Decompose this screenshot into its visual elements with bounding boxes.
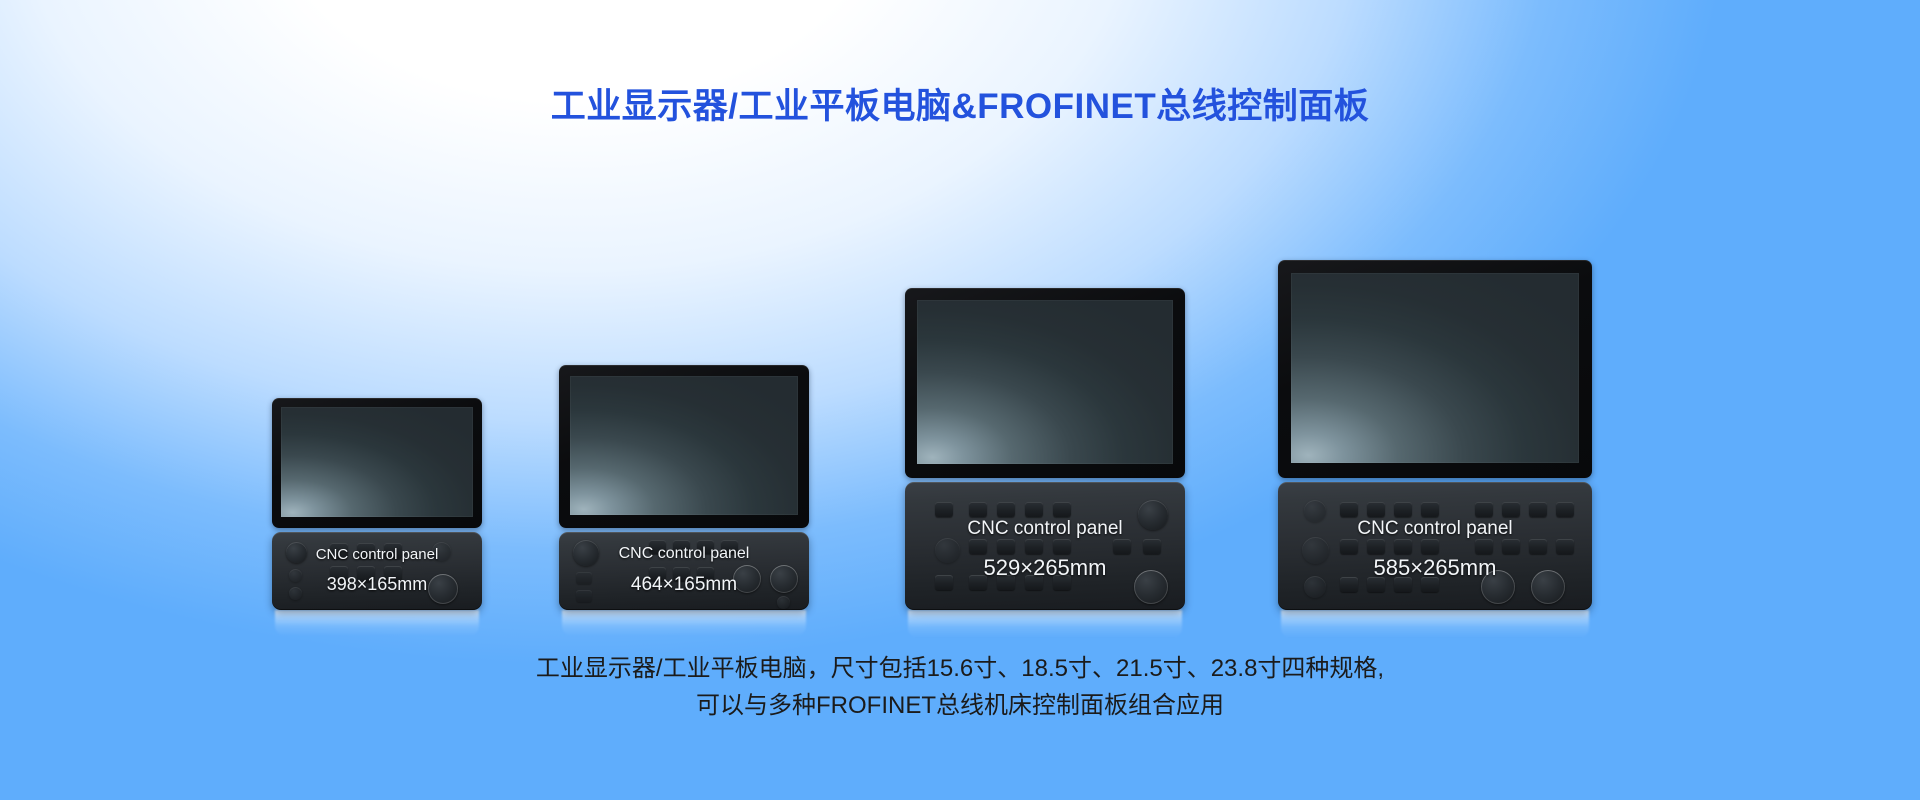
button-icon[interactable] (1367, 502, 1385, 517)
caption-block: 工业显示器/工业平板电脑，尺寸包括15.6寸、18.5寸、21.5寸、23.8寸… (0, 650, 1920, 724)
knob-icon[interactable] (286, 542, 307, 563)
knob-icon[interactable] (432, 542, 451, 561)
knob-icon[interactable] (428, 574, 458, 604)
button-icon[interactable] (1394, 502, 1412, 517)
button-icon[interactable] (997, 575, 1015, 590)
button-icon[interactable] (1053, 502, 1071, 517)
button-icon[interactable] (576, 590, 592, 602)
button-icon[interactable] (1340, 577, 1358, 592)
monitor-screen (917, 300, 1173, 464)
button-icon[interactable] (357, 566, 375, 582)
button-icon[interactable] (1502, 502, 1520, 517)
button-icon[interactable] (1340, 502, 1358, 517)
button-icon[interactable] (1556, 502, 1574, 517)
button-icon[interactable] (673, 567, 690, 581)
knob-icon[interactable] (1481, 570, 1515, 604)
button-icon[interactable] (969, 539, 987, 554)
knob-icon[interactable] (1304, 576, 1326, 598)
display-monitor (905, 288, 1185, 478)
button-icon[interactable] (1025, 575, 1043, 590)
button-icon[interactable] (649, 540, 666, 554)
knob-icon[interactable] (289, 587, 302, 600)
knob-icon[interactable] (733, 565, 761, 593)
product-unit-4[interactable]: CNC control panel 585×265mm (1278, 260, 1592, 610)
button-icon[interactable] (1394, 577, 1412, 592)
button-icon[interactable] (1421, 502, 1439, 517)
panel-title-label: CNC control panel (1278, 518, 1592, 540)
knob-icon[interactable] (1304, 500, 1326, 522)
knob-icon[interactable] (1302, 537, 1329, 564)
knob-icon[interactable] (289, 569, 302, 582)
button-icon[interactable] (1394, 539, 1412, 554)
product-lineup: CNC control panel 398×165mm (0, 190, 1920, 610)
product-unit-3[interactable]: CNC control panel 529×265mm (905, 288, 1185, 610)
button-icon[interactable] (1475, 502, 1493, 517)
button-icon[interactable] (1340, 539, 1358, 554)
display-monitor (559, 365, 809, 528)
button-icon[interactable] (1421, 577, 1439, 592)
cnc-control-panel[interactable]: CNC control panel 529×265mm (905, 482, 1185, 610)
display-monitor (1278, 260, 1592, 478)
knob-icon[interactable] (573, 540, 599, 566)
monitor-screen (570, 376, 798, 515)
unit-reflection (562, 610, 806, 636)
monitor-screen (1291, 273, 1579, 463)
button-icon[interactable] (697, 567, 714, 581)
button-icon[interactable] (969, 502, 987, 517)
button-icon[interactable] (1529, 502, 1547, 517)
cnc-control-panel[interactable]: CNC control panel 464×165mm (559, 532, 809, 610)
button-icon[interactable] (1556, 539, 1574, 554)
product-unit-2[interactable]: CNC control panel 464×165mm (559, 365, 809, 610)
unit-reflection (275, 610, 479, 636)
cnc-control-panel[interactable]: CNC control panel 398×165mm (272, 532, 482, 610)
knob-icon[interactable] (1134, 570, 1168, 604)
button-icon[interactable] (935, 502, 953, 517)
button-icon[interactable] (1475, 539, 1493, 554)
button-icon[interactable] (969, 575, 987, 590)
button-icon[interactable] (1143, 539, 1161, 554)
monitor-screen (281, 407, 473, 517)
product-unit-1[interactable]: CNC control panel 398×165mm (272, 398, 482, 610)
cnc-control-panel[interactable]: CNC control panel 585×265mm (1278, 482, 1592, 610)
button-icon[interactable] (997, 502, 1015, 517)
button-icon[interactable] (384, 543, 402, 559)
button-icon[interactable] (330, 543, 348, 559)
button-icon[interactable] (1025, 539, 1043, 554)
button-icon[interactable] (1053, 539, 1071, 554)
knob-icon[interactable] (1138, 500, 1168, 530)
poster-canvas: 工业显示器/工业平板电脑&FROFINET总线控制面板 CNC control … (0, 0, 1920, 800)
button-icon[interactable] (1421, 539, 1439, 554)
unit-reflection (908, 610, 1182, 638)
button-icon[interactable] (576, 572, 592, 584)
button-icon[interactable] (935, 575, 953, 590)
button-icon[interactable] (1502, 539, 1520, 554)
caption-line-2: 可以与多种FROFINET总线机床控制面板组合应用 (0, 687, 1920, 724)
knob-icon[interactable] (935, 538, 960, 563)
button-icon[interactable] (997, 539, 1015, 554)
button-icon[interactable] (1529, 539, 1547, 554)
button-icon[interactable] (384, 566, 402, 582)
button-icon[interactable] (721, 540, 738, 554)
button-icon[interactable] (673, 540, 690, 554)
button-icon[interactable] (1367, 539, 1385, 554)
button-icon[interactable] (697, 540, 714, 554)
unit-reflection (1281, 610, 1589, 638)
button-icon[interactable] (357, 543, 375, 559)
button-icon[interactable] (1367, 577, 1385, 592)
caption-line-1: 工业显示器/工业平板电脑，尺寸包括15.6寸、18.5寸、21.5寸、23.8寸… (0, 650, 1920, 687)
button-icon[interactable] (1025, 502, 1043, 517)
button-icon[interactable] (649, 567, 666, 581)
button-icon[interactable] (330, 566, 348, 582)
knob-icon[interactable] (1531, 570, 1565, 604)
display-monitor (272, 398, 482, 528)
knob-icon[interactable] (770, 565, 798, 593)
page-title: 工业显示器/工业平板电脑&FROFINET总线控制面板 (0, 78, 1920, 129)
button-icon[interactable] (1053, 575, 1071, 590)
button-icon[interactable] (1113, 539, 1131, 554)
knob-icon[interactable] (777, 596, 790, 609)
